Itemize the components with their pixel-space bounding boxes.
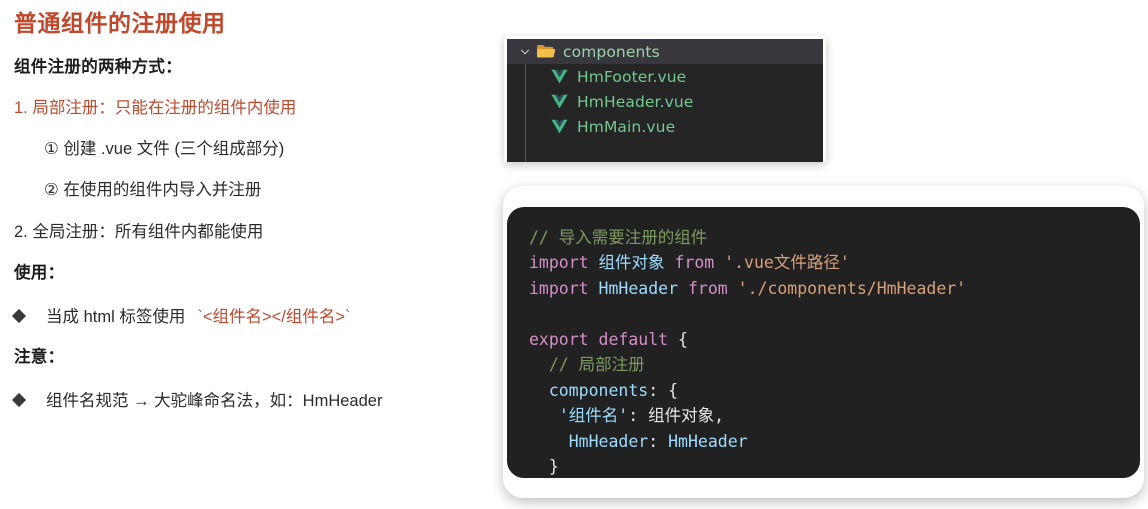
list-item-global-registration: 2. 全局注册：所有组件内都能使用	[14, 221, 494, 243]
tree-row-file[interactable]: HmFooter.vue	[507, 64, 823, 89]
code-token: }	[529, 457, 559, 476]
code-token: {	[678, 330, 688, 349]
bullet-note-label: 组件名规范 → 大驼峰命名法，如：HmHeader	[46, 387, 382, 411]
folder-open-icon	[536, 43, 556, 60]
code-line: HmHeader: HmHeader	[529, 429, 1140, 455]
list-item-local-sub-2: ② 在使用的组件内导入并注册	[44, 179, 494, 201]
code-token	[529, 381, 549, 400]
vue-file-icon	[551, 69, 568, 84]
code-token: HmHeader	[599, 279, 678, 298]
tree-file-label: HmHeader.vue	[577, 93, 693, 111]
tree-row-folder-components[interactable]: components	[507, 39, 823, 64]
code-snippet-panel: // 导入需要注册的组件import 组件对象 from '.vue文件路径'i…	[503, 186, 1144, 498]
file-tree: components HmFooter.vue	[507, 39, 823, 162]
list-item-local-sub-1: ① 创建 .vue 文件 (三个组成部分)	[44, 138, 494, 160]
code-line: '组件名': 组件对象,	[529, 403, 1140, 429]
tree-row-file[interactable]: HmHeader.vue	[507, 89, 823, 114]
code-token: 组件对象	[648, 406, 714, 425]
heading-note: 注意：	[14, 346, 494, 368]
tree-file-label: HmFooter.vue	[577, 68, 686, 86]
code-token: from	[665, 253, 725, 272]
code-line: // 局部注册	[529, 352, 1140, 378]
list-item-local-registration: 1. 局部注册：只能在注册的组件内使用	[14, 97, 494, 119]
tree-row-file[interactable]: HmMain.vue	[507, 114, 823, 139]
inline-code-component-tag: `<组件名></组件名>`	[197, 303, 350, 327]
code-token: '.vue文件路径'	[724, 253, 850, 272]
chevron-down-icon[interactable]	[517, 44, 533, 60]
code-token: // 局部注册	[529, 355, 645, 374]
code-token	[529, 304, 539, 323]
code-token: export default	[529, 330, 678, 349]
code-token	[529, 432, 569, 451]
heading-usage: 使用：	[14, 262, 494, 284]
bullet-usage-label: 当成 html 标签使用	[46, 303, 185, 327]
code-token: '组件名'	[559, 406, 628, 425]
bullet-note-row: 组件名规范 → 大驼峰命名法，如：HmHeader	[14, 387, 494, 411]
page-title: 普通组件的注册使用	[14, 10, 494, 38]
code-token: // 导入需要注册的组件	[529, 228, 707, 247]
code-block: // 导入需要注册的组件import 组件对象 from '.vue文件路径'i…	[507, 207, 1140, 478]
code-token: : {	[648, 381, 678, 400]
code-token: HmHeader	[668, 432, 747, 451]
tree-file-label: HmMain.vue	[577, 118, 675, 136]
diamond-bullet-icon	[12, 393, 26, 407]
code-token: import	[529, 279, 599, 298]
code-token: import	[529, 253, 599, 272]
vue-file-icon	[551, 94, 568, 109]
tree-file-list: HmFooter.vue HmHeader.vue	[507, 64, 823, 139]
code-line: components: {	[529, 378, 1140, 404]
bullet-usage-row: 当成 html 标签使用 `<组件名></组件名>`	[14, 303, 494, 327]
file-explorer-panel: components HmFooter.vue	[504, 36, 826, 162]
code-token: './components/HmHeader'	[738, 279, 966, 298]
code-line: // 导入需要注册的组件	[529, 225, 1140, 251]
code-token	[529, 406, 559, 425]
code-token: :	[648, 432, 668, 451]
code-line: }	[529, 454, 1140, 478]
code-token: ,	[714, 406, 724, 425]
vue-file-icon	[551, 119, 568, 134]
code-token: :	[628, 406, 648, 425]
code-line	[529, 301, 1140, 327]
code-line: import 组件对象 from '.vue文件路径'	[529, 250, 1140, 276]
code-token: 组件对象	[599, 253, 665, 272]
tree-folder-label: components	[563, 43, 660, 61]
code-token: components	[549, 381, 648, 400]
diamond-bullet-icon	[12, 309, 26, 323]
notes-panel: 普通组件的注册使用 组件注册的两种方式： 1. 局部注册：只能在注册的组件内使用…	[14, 10, 494, 430]
code-token: from	[678, 279, 738, 298]
heading-registration-ways: 组件注册的两种方式：	[14, 56, 494, 78]
code-line: export default {	[529, 327, 1140, 353]
code-line: import HmHeader from './components/HmHea…	[529, 276, 1140, 302]
code-token: HmHeader	[569, 432, 648, 451]
